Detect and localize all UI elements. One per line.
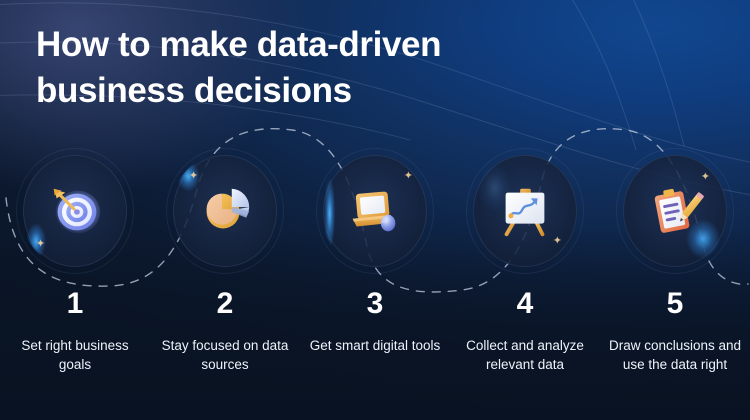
step-5-caption: Draw conclusions and use the data right: [605, 336, 745, 374]
step-2-number: 2: [217, 289, 234, 319]
step-5[interactable]: ✦: [600, 155, 750, 374]
step-5-bubble: ✦: [623, 155, 727, 267]
clipboard-pencil-icon: [644, 180, 706, 242]
sparkle-icon: ✦: [404, 171, 413, 182]
sparkle-icon: ✦: [553, 236, 562, 247]
pie-chart-icon: [194, 180, 256, 242]
step-3-number: 3: [367, 289, 384, 319]
step-1-caption: Set right business goals: [5, 336, 145, 374]
step-4[interactable]: ✦: [450, 155, 600, 374]
sparkle-icon: ✦: [36, 239, 45, 250]
step-1[interactable]: ✦: [0, 155, 150, 374]
step-3[interactable]: ✦: [300, 155, 450, 374]
infographic-slide: ✦: [0, 0, 750, 420]
step-1-bubble: ✦: [23, 155, 127, 267]
step-3-caption: Get smart digital tools: [305, 336, 445, 355]
step-5-number: 5: [667, 289, 684, 319]
step-4-caption: Collect and analyze relevant data: [455, 336, 595, 374]
target-arrow-icon: [44, 180, 106, 242]
step-2-caption: Stay focused on data sources: [155, 336, 295, 374]
step-3-bubble: ✦: [323, 155, 427, 267]
step-2-bubble: ✦: [173, 155, 277, 267]
step-2[interactable]: ✦: [150, 155, 300, 374]
step-4-bubble: ✦: [473, 155, 577, 267]
steps-row: ✦: [0, 155, 750, 374]
sparkle-icon: ✦: [189, 171, 198, 182]
step-1-number: 1: [67, 289, 84, 319]
sparkle-icon: ✦: [701, 172, 710, 183]
page-title: How to make data-driven business decisio…: [36, 22, 636, 113]
presentation-chart-icon: [494, 180, 556, 242]
laptop-mouse-icon: [344, 180, 406, 242]
step-4-number: 4: [517, 289, 534, 319]
